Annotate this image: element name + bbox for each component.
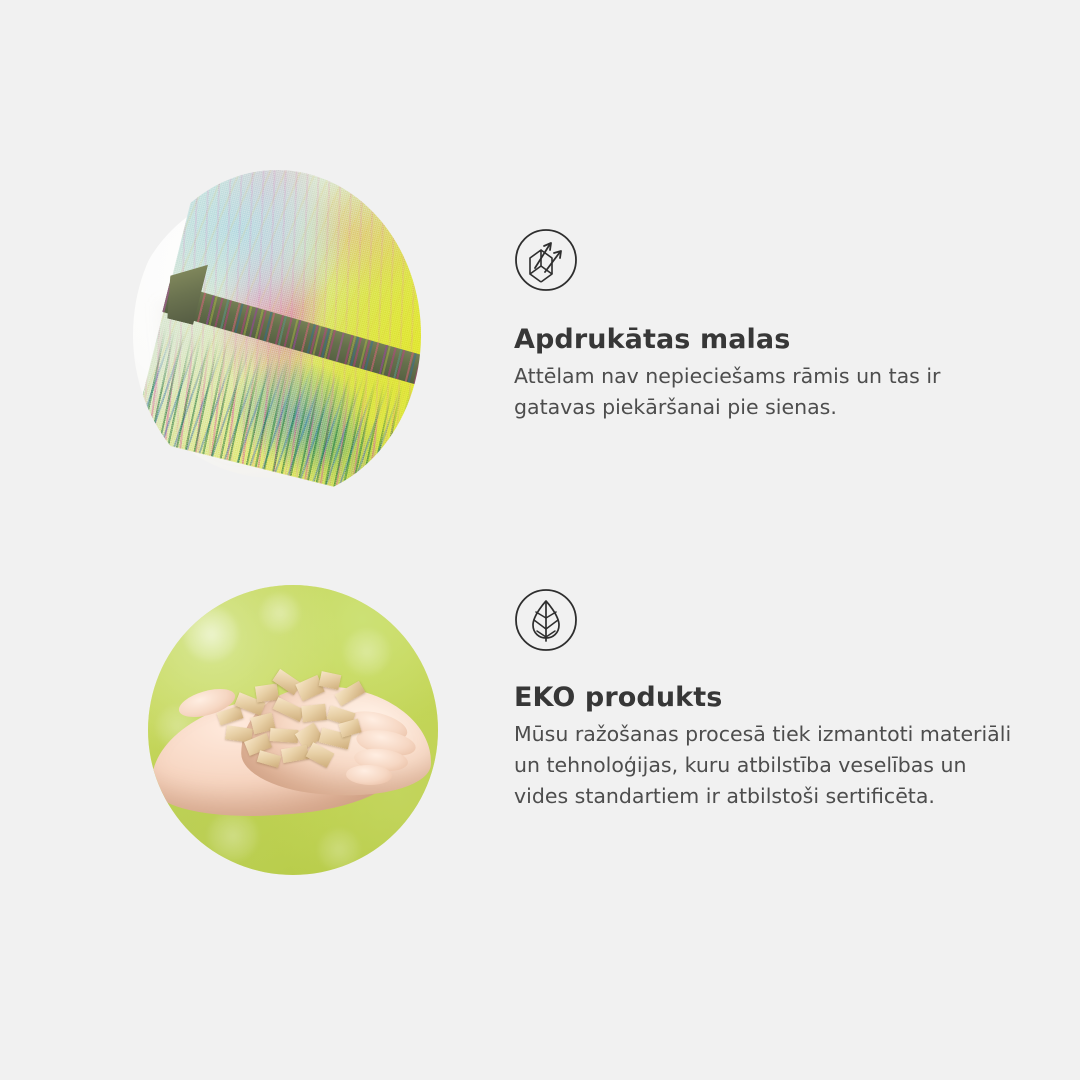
wood-chip bbox=[273, 697, 306, 722]
bokeh-light bbox=[318, 829, 360, 871]
wood-chip bbox=[281, 745, 309, 763]
feature-description: Mūsu ražošanas procesā tiek izmantoti ma… bbox=[514, 719, 1014, 812]
wood-chip bbox=[255, 684, 279, 703]
feature-title: EKO produkts bbox=[514, 682, 1014, 713]
leaf-icon bbox=[514, 588, 578, 652]
feature-eco-product: EKO produkts Mūsu ražošanas procesā tiek… bbox=[514, 588, 1014, 812]
bokeh-light bbox=[260, 593, 300, 633]
wood-chip bbox=[257, 750, 281, 768]
feature-title: Apdrukātas malas bbox=[514, 324, 1014, 355]
hands bbox=[150, 669, 436, 819]
wood-chips-pile bbox=[212, 669, 380, 767]
wood-chip bbox=[301, 704, 327, 722]
wood-chip bbox=[217, 706, 244, 726]
wood-chip bbox=[270, 728, 299, 743]
hands-holding-wood-chips-photo bbox=[148, 585, 438, 875]
canvas-wrapped-edges-icon bbox=[514, 228, 578, 292]
wood-chip bbox=[306, 742, 335, 767]
canvas-print-corner-photo bbox=[133, 170, 421, 500]
feature-printed-edges: Apdrukātas malas Attēlam nav nepieciešam… bbox=[514, 228, 1014, 423]
bokeh-light bbox=[184, 607, 238, 661]
feature-description: Attēlam nav nepieciešams rāmis un tas ir… bbox=[514, 361, 1014, 423]
